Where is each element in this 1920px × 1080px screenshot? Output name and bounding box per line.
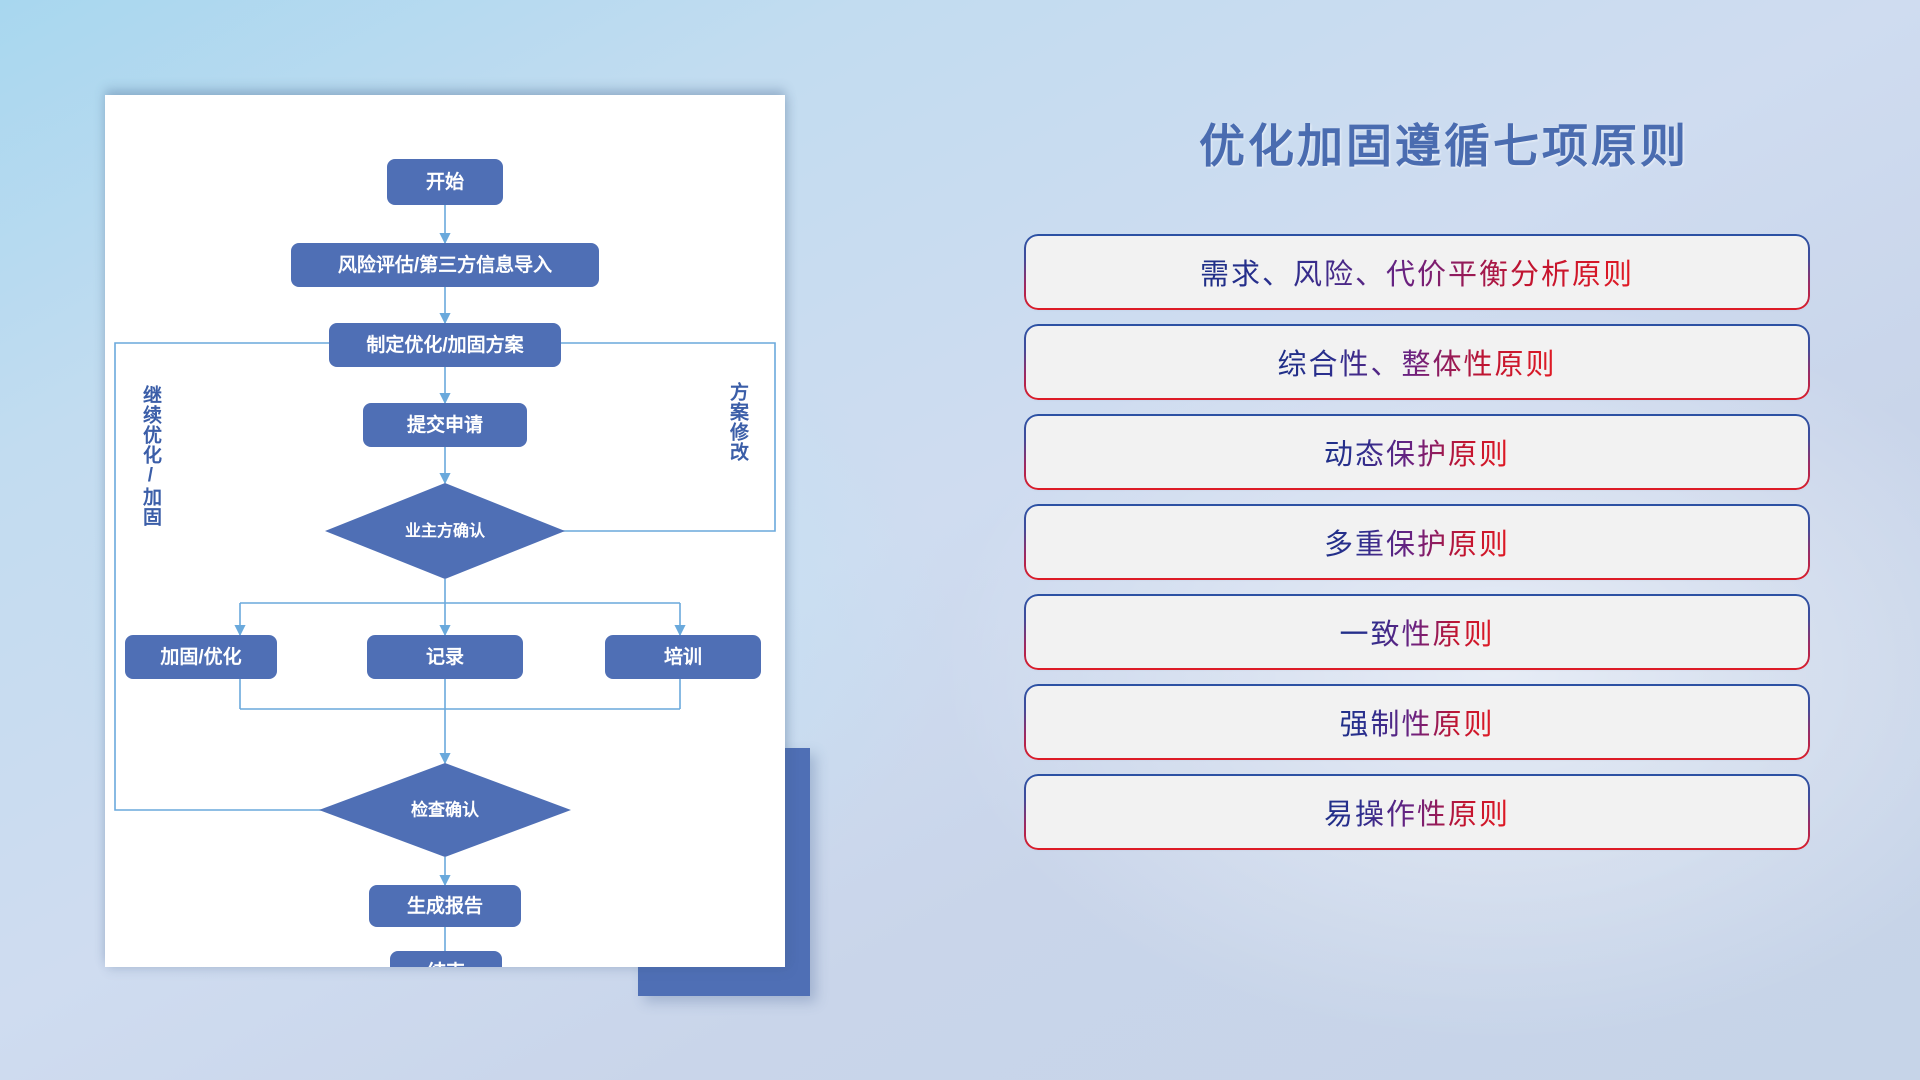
node-risk-assessment-label: 风险评估/第三方信息导入 <box>338 253 552 276</box>
list-item[interactable]: 强制性原则 <box>1026 686 1808 758</box>
node-end[interactable]: 结束 <box>390 951 502 967</box>
principle-list: 需求、风险、代价平衡分析原则 综合性、整体性原则 动态保护原则 多重保护原则 一… <box>1026 236 1808 866</box>
principle-label: 强制性原则 <box>1339 701 1494 743</box>
list-item[interactable]: 动态保护原则 <box>1026 416 1808 488</box>
list-item[interactable]: 一致性原则 <box>1026 596 1808 668</box>
node-reinforce-label: 加固/优化 <box>159 645 241 668</box>
flowchart-card: 开始 风险评估/第三方信息导入 制定优化/加固方案 提交申请 业主方确认 加固/ <box>105 95 785 967</box>
node-check-confirm[interactable]: 检查确认 <box>319 763 571 857</box>
node-report[interactable]: 生成报告 <box>369 885 521 927</box>
list-item[interactable]: 需求、风险、代价平衡分析原则 <box>1026 236 1808 308</box>
node-record-label: 记录 <box>426 646 464 668</box>
node-end-label: 结束 <box>427 960 466 967</box>
node-risk-assessment[interactable]: 风险评估/第三方信息导入 <box>291 243 599 287</box>
node-submit-label: 提交申请 <box>407 413 483 436</box>
node-record[interactable]: 记录 <box>367 635 523 679</box>
node-start-label: 开始 <box>426 170 464 193</box>
principle-label: 一致性原则 <box>1339 611 1494 653</box>
node-check-confirm-label: 检查确认 <box>411 799 480 819</box>
loop-label-plan-revision: 方案修改 <box>727 382 747 462</box>
node-owner-confirm[interactable]: 业主方确认 <box>325 483 565 579</box>
page-title: 优化加固遵循七项原则 <box>1024 110 1864 176</box>
principle-label: 动态保护原则 <box>1324 431 1510 473</box>
slide-canvas: 开始 风险评估/第三方信息导入 制定优化/加固方案 提交申请 业主方确认 加固/ <box>0 0 1920 1080</box>
flowchart-svg: 开始 风险评估/第三方信息导入 制定优化/加固方案 提交申请 业主方确认 加固/ <box>105 95 785 967</box>
principle-label: 综合性、整体性原则 <box>1277 341 1556 383</box>
node-submit[interactable]: 提交申请 <box>363 403 527 447</box>
node-report-label: 生成报告 <box>407 894 483 917</box>
loop-label-continue-optimize: 继续优化/加固 <box>140 385 160 527</box>
principle-label: 易操作性原则 <box>1324 791 1510 833</box>
node-plan-label: 制定优化/加固方案 <box>366 333 524 356</box>
node-start[interactable]: 开始 <box>387 159 503 205</box>
list-item[interactable]: 易操作性原则 <box>1026 776 1808 848</box>
list-item[interactable]: 综合性、整体性原则 <box>1026 326 1808 398</box>
node-reinforce[interactable]: 加固/优化 <box>125 635 277 679</box>
principle-label: 多重保护原则 <box>1324 521 1510 563</box>
node-owner-confirm-label: 业主方确认 <box>405 521 486 540</box>
principle-label: 需求、风险、代价平衡分析原则 <box>1200 251 1634 293</box>
node-training[interactable]: 培训 <box>605 635 761 679</box>
node-plan[interactable]: 制定优化/加固方案 <box>329 323 561 367</box>
list-item[interactable]: 多重保护原则 <box>1026 506 1808 578</box>
node-training-label: 培训 <box>664 645 702 668</box>
